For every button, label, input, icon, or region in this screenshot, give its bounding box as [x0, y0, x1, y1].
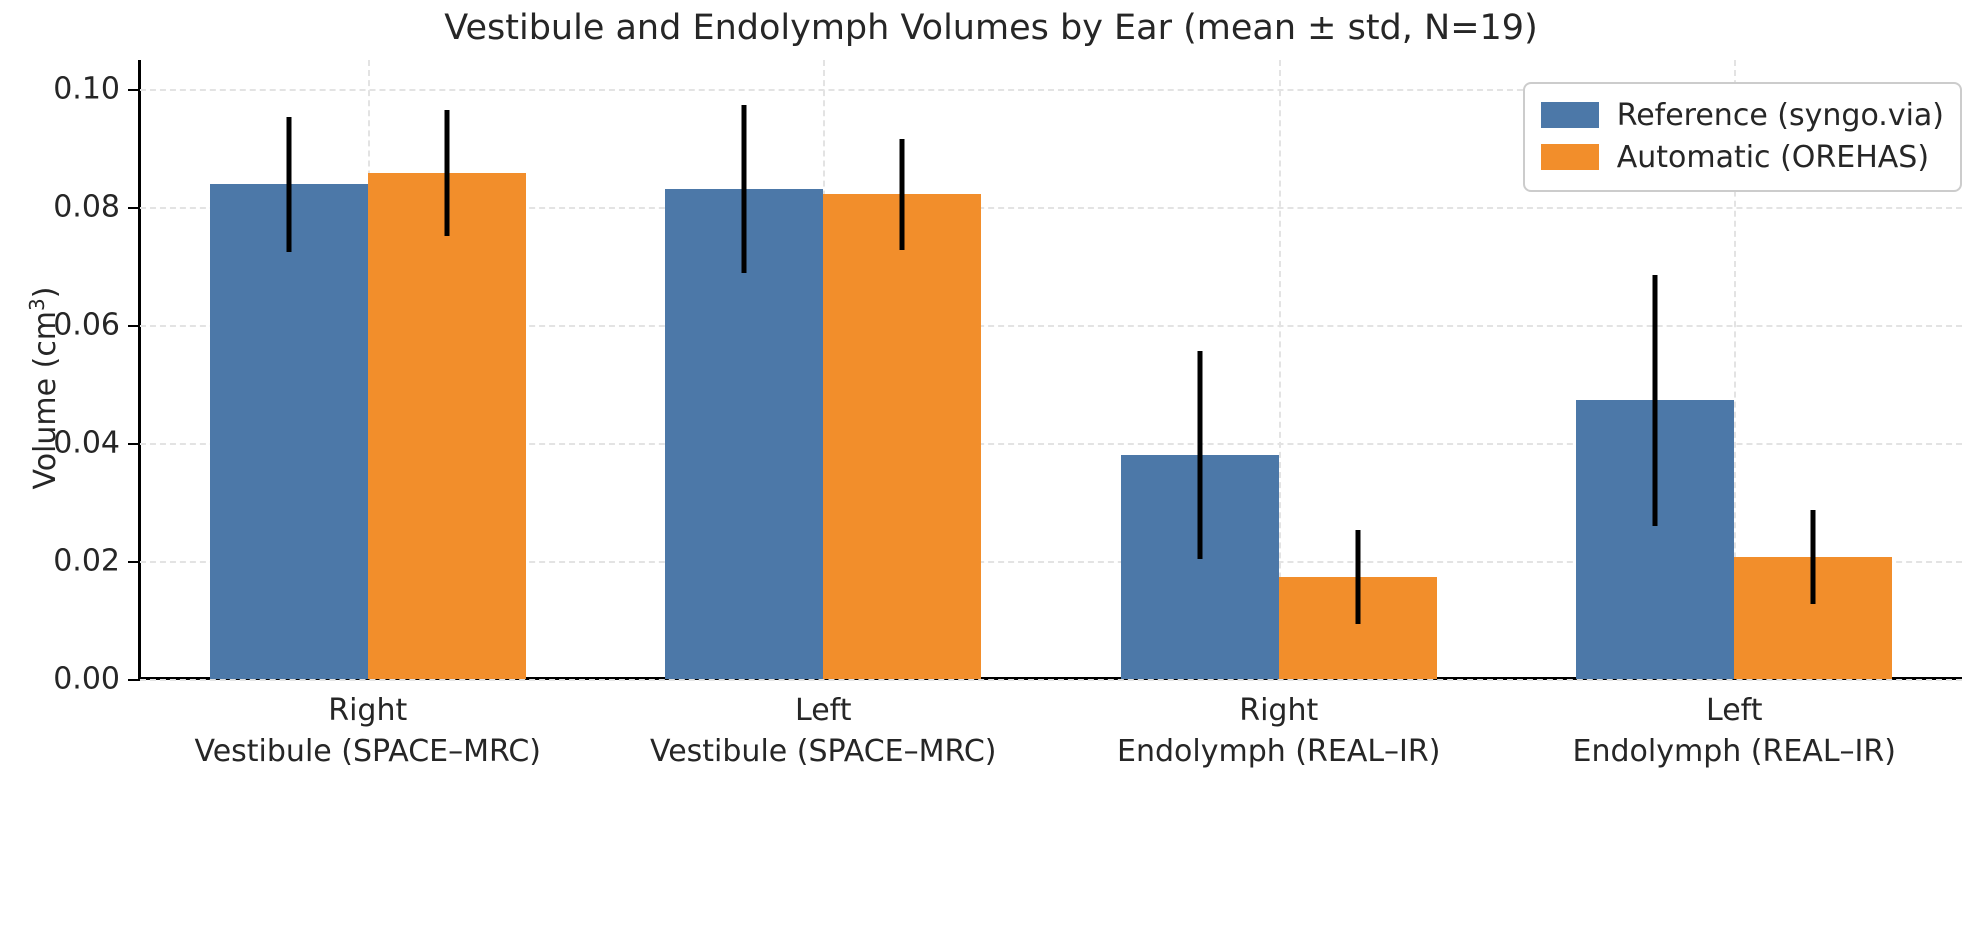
- x-tick-label-group-1: LeftVestibule (SPACE–MRC): [650, 690, 996, 772]
- x-tick-label-line: Left: [650, 690, 996, 731]
- y-tick-mark: [128, 325, 139, 327]
- legend-swatch-icon: [1541, 102, 1599, 128]
- figure-canvas: Vestibule and Endolymph Volumes by Ear (…: [0, 0, 1982, 941]
- y-tick-mark: [128, 207, 139, 209]
- chart-legend: Reference (syngo.via)Automatic (OREHAS): [1523, 82, 1962, 192]
- y-tick-mark: [128, 89, 139, 91]
- x-tick-label-group-2: RightEndolymph (REAL–IR): [1117, 690, 1440, 772]
- x-tick-label-line: Vestibule (SPACE–MRC): [650, 731, 996, 772]
- legend-label: Automatic (OREHAS): [1617, 140, 1929, 175]
- error-bar-0-group-3: [1653, 275, 1658, 526]
- x-tick-label-group-3: LeftEndolymph (REAL–IR): [1573, 690, 1896, 772]
- x-tick-label-line: Right: [195, 690, 541, 731]
- x-tick-label-line: Right: [1117, 690, 1440, 731]
- chart-title: Vestibule and Endolymph Volumes by Ear (…: [0, 8, 1982, 48]
- error-bar-0-group-0: [286, 117, 291, 253]
- gridline-horizontal: [140, 679, 1962, 681]
- y-tick-mark: [128, 561, 139, 563]
- y-axis-label-exponent: 3: [25, 298, 49, 311]
- y-tick-label: 0.00: [53, 662, 120, 697]
- error-bar-1-group-2: [1355, 530, 1360, 624]
- legend-item-0[interactable]: Reference (syngo.via): [1541, 94, 1944, 136]
- y-axis-label-tail: ): [28, 287, 63, 299]
- bar-1-group-0: [368, 173, 526, 679]
- error-bar-1-group-3: [1811, 510, 1816, 604]
- x-tick-label-line: Left: [1573, 690, 1896, 731]
- x-tick-label-line: Endolymph (REAL–IR): [1573, 731, 1896, 772]
- y-tick-label: 0.04: [53, 426, 120, 461]
- legend-item-1[interactable]: Automatic (OREHAS): [1541, 136, 1944, 178]
- legend-label: Reference (syngo.via): [1617, 98, 1944, 133]
- error-bar-0-group-1: [742, 105, 747, 272]
- bar-1-group-1: [823, 194, 981, 679]
- y-tick-label: 0.06: [53, 308, 120, 343]
- y-tick-mark: [128, 443, 139, 445]
- x-tick-label-line: Vestibule (SPACE–MRC): [195, 731, 541, 772]
- x-tick-label-group-0: RightVestibule (SPACE–MRC): [195, 690, 541, 772]
- y-tick-label: 0.08: [53, 190, 120, 225]
- bar-0-group-0: [210, 184, 368, 679]
- error-bar-1-group-1: [900, 139, 905, 250]
- y-tick-mark: [128, 679, 139, 681]
- error-bar-1-group-0: [444, 110, 449, 236]
- x-tick-label-line: Endolymph (REAL–IR): [1117, 731, 1440, 772]
- legend-swatch-icon: [1541, 144, 1599, 170]
- error-bar-0-group-2: [1197, 351, 1202, 560]
- y-tick-label: 0.02: [53, 544, 120, 579]
- y-tick-label: 0.10: [53, 72, 120, 107]
